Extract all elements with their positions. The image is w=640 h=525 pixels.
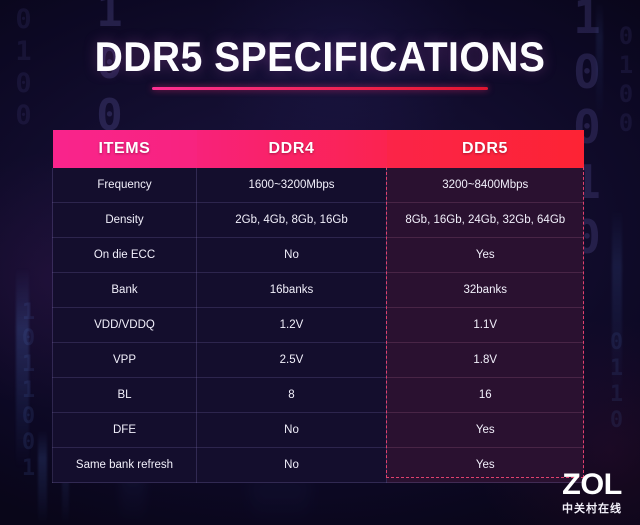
- table-row: VDD/VDDQ 1.2V 1.1V: [53, 308, 584, 343]
- cell-ddr5-dfe: Yes: [387, 413, 584, 448]
- cell-ddr4-vpp: 2.5V: [197, 343, 387, 378]
- cell-item-same-bank-refresh: Same bank refresh: [53, 448, 197, 483]
- cell-item-vdd-vddq: VDD/VDDQ: [53, 308, 197, 343]
- cell-ddr4-frequency: 1600~3200Mbps: [197, 168, 387, 203]
- cell-ddr4-dfe: No: [197, 413, 387, 448]
- zol-wordmark: ZOL: [561, 470, 622, 500]
- cell-ddr5-bl: 16: [387, 378, 584, 413]
- cell-ddr5-bank: 32banks: [387, 273, 584, 308]
- data-streak-2: [38, 430, 47, 525]
- table-row: Frequency 1600~3200Mbps 3200~8400Mbps: [53, 168, 584, 203]
- cell-ddr5-density: 8Gb, 16Gb, 24Gb, 32Gb, 64Gb: [387, 203, 584, 238]
- cell-item-frequency: Frequency: [53, 168, 197, 203]
- cell-ddr5-same-bank-refresh: Yes: [387, 448, 584, 483]
- table-header-row: ITEMS DDR4 DDR5: [53, 130, 584, 168]
- binary-column-5: 1011001: [16, 300, 41, 482]
- table-row: On die ECC No Yes: [53, 238, 584, 273]
- table-row: VPP 2.5V 1.8V: [53, 343, 584, 378]
- zol-subtitle: 中关村在线: [562, 503, 622, 514]
- cell-item-bank: Bank: [53, 273, 197, 308]
- cell-ddr5-frequency: 3200~8400Mbps: [387, 168, 584, 203]
- cell-item-dfe: DFE: [53, 413, 197, 448]
- cell-ddr5-on-die-ecc: Yes: [387, 238, 584, 273]
- column-header-ddr5: DDR5: [387, 130, 584, 168]
- cell-item-on-die-ecc: On die ECC: [53, 238, 197, 273]
- column-header-items: ITEMS: [53, 130, 197, 168]
- cell-item-vpp: VPP: [53, 343, 197, 378]
- table-row: DFE No Yes: [53, 413, 584, 448]
- cell-ddr4-bl: 8: [197, 378, 387, 413]
- title-underline: [152, 87, 488, 90]
- cell-item-density: Density: [53, 203, 197, 238]
- zol-logo: ZOL 中关村在线: [562, 470, 622, 514]
- cell-ddr5-vdd-vddq: 1.1V: [387, 308, 584, 343]
- data-streak-4: [612, 210, 622, 400]
- cell-item-bl: BL: [53, 378, 197, 413]
- data-streak-1: [16, 268, 29, 468]
- table-body: Frequency 1600~3200Mbps 3200~8400Mbps De…: [53, 168, 584, 483]
- cell-ddr4-on-die-ecc: No: [197, 238, 387, 273]
- table-header: ITEMS DDR4 DDR5: [53, 130, 584, 168]
- specification-table: ITEMS DDR4 DDR5 Frequency 1600~3200Mbps …: [52, 130, 584, 483]
- table-row: Bank 16banks 32banks: [53, 273, 584, 308]
- cell-ddr4-density: 2Gb, 4Gb, 8Gb, 16Gb: [197, 203, 387, 238]
- column-header-ddr4: DDR4: [197, 130, 387, 168]
- cell-ddr4-vdd-vddq: 1.2V: [197, 308, 387, 343]
- table-row: BL 8 16: [53, 378, 584, 413]
- cell-ddr5-vpp: 1.8V: [387, 343, 584, 378]
- binary-column-6: 0110: [604, 330, 629, 434]
- title-block: DDR5 SPECIFICATIONS: [0, 34, 640, 90]
- table-row: Same bank refresh No Yes: [53, 448, 584, 483]
- cell-ddr4-same-bank-refresh: No: [197, 448, 387, 483]
- page-title: DDR5 SPECIFICATIONS: [22, 34, 617, 80]
- table-row: Density 2Gb, 4Gb, 8Gb, 16Gb 8Gb, 16Gb, 2…: [53, 203, 584, 238]
- cell-ddr4-bank: 16banks: [197, 273, 387, 308]
- infographic-canvas: 10010 0100 10010 0100 1011001 0110 DDR5 …: [0, 0, 640, 525]
